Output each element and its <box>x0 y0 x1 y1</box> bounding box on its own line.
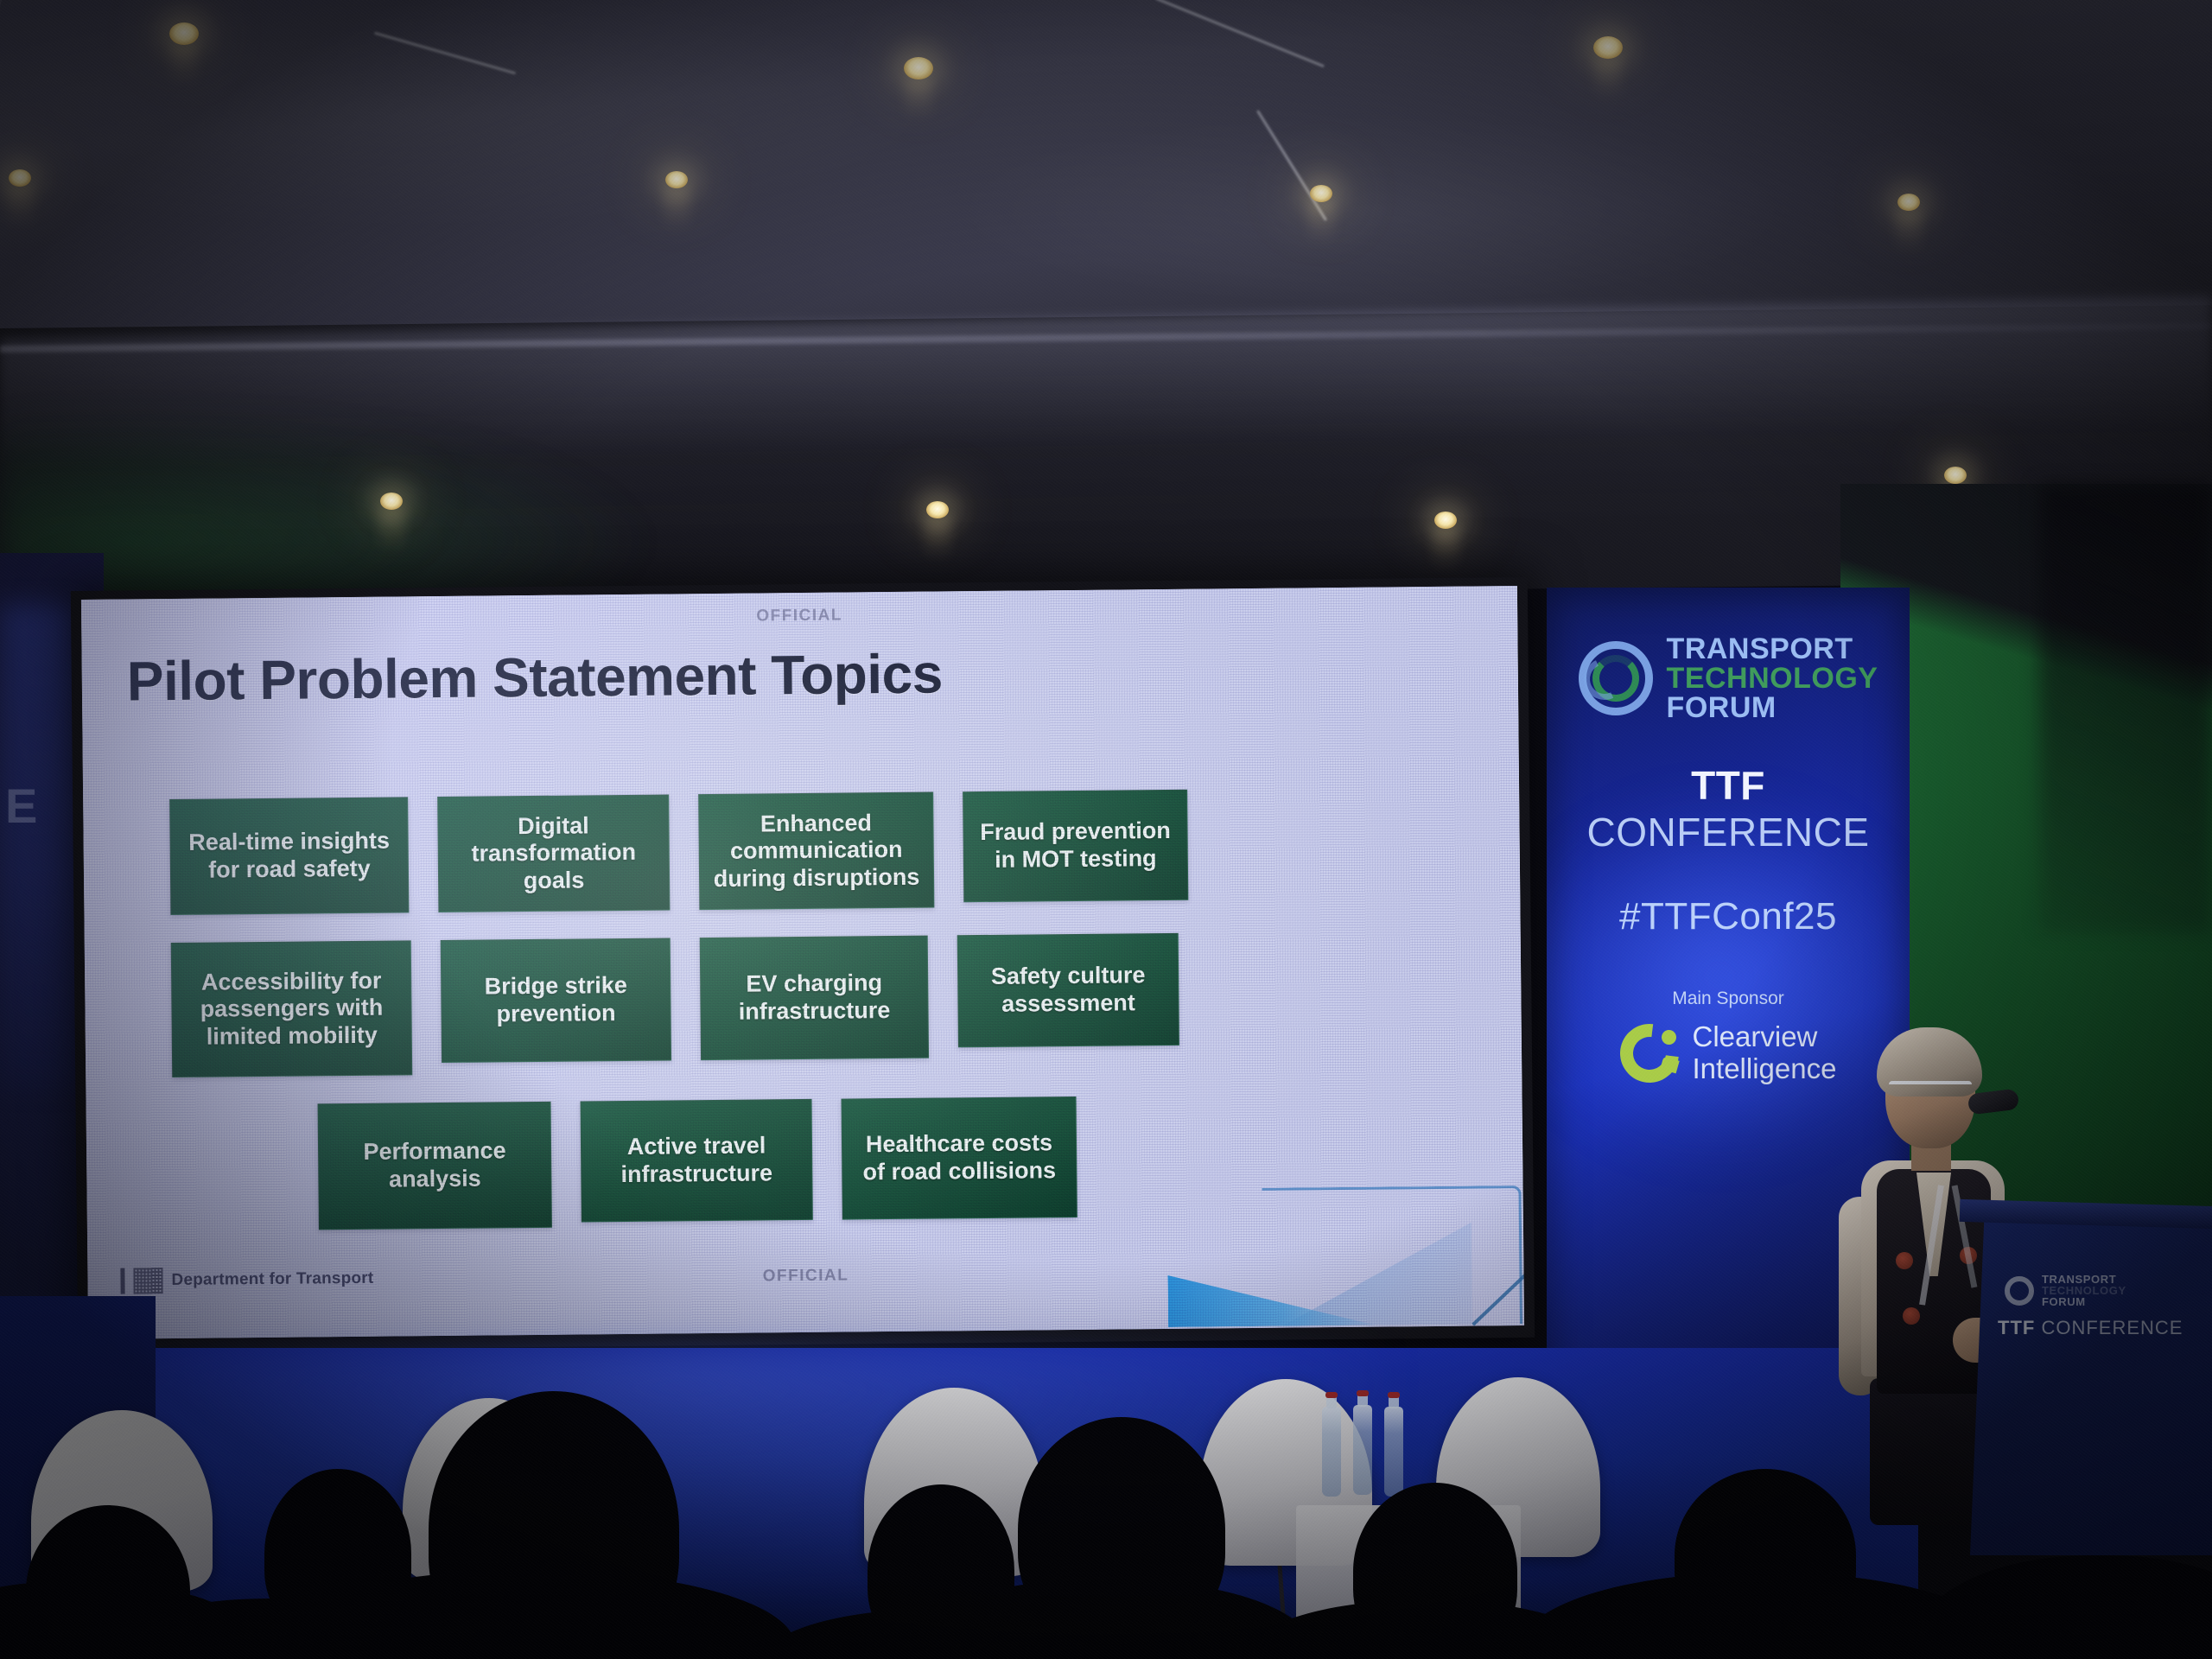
microphone-icon <box>1967 1089 2019 1116</box>
ceiling-downlight-icon <box>904 57 933 79</box>
ttf-logo-line-forum: FORUM <box>1667 693 1878 722</box>
clearview-c-logo-icon <box>1620 1024 1679 1083</box>
presentation-slide: OFFICIAL Pilot Problem Statement Topics … <box>81 586 1524 1339</box>
topic-row-1: Real-time insights for road safety Digit… <box>154 787 1451 915</box>
ceiling-downlight-icon <box>926 501 949 518</box>
wall-letter: E <box>5 778 39 834</box>
audience-silhouette <box>1353 1483 1517 1659</box>
topic-row-2: Accessibility for passengers with limite… <box>156 931 1452 1077</box>
water-bottle <box>1322 1407 1341 1497</box>
slide-title: Pilot Problem Statement Topics <box>126 641 943 713</box>
main-sponsor-label: Main Sponsor <box>1569 988 1887 1009</box>
conference-photo-scene: E OFFICIAL Pilot Problem Statement Topic… <box>0 0 2212 1659</box>
water-bottle <box>1384 1407 1403 1497</box>
vest-pattern <box>1896 1252 1913 1269</box>
vest-pattern <box>1903 1307 1920 1325</box>
ttf-logo-line-transport: TRANSPORT <box>1667 634 1878 664</box>
audience-silhouette <box>429 1391 679 1659</box>
stage-wall-left-glow <box>0 605 78 1089</box>
topic-card: Fraud prevention in MOT testing <box>963 790 1188 902</box>
topic-card: Enhanced communication during disruption… <box>698 792 934 911</box>
ttf-logo: TRANSPORT TECHNOLOGY FORUM <box>1569 634 1887 722</box>
lectern-conference-light: CONFERENCE <box>2035 1317 2183 1338</box>
ceiling-downlight-icon <box>1434 512 1457 529</box>
deco-corner-line <box>1262 1185 1523 1326</box>
audience-silhouette <box>264 1469 411 1638</box>
lectern-ttf-logo: TRANSPORT TECHNOLOGY FORUM <box>2005 1274 2126 1307</box>
topic-card: Active travel infrastructure <box>581 1099 813 1223</box>
ttf-logo-line-technology: TECHNOLOGY <box>1667 664 1878 693</box>
water-bottle <box>1353 1405 1372 1495</box>
lectern-conference-title: TTF CONFERENCE <box>1998 1317 2183 1339</box>
ceiling-downlight-icon <box>380 493 403 510</box>
classification-marking-top: OFFICIAL <box>81 600 1517 632</box>
lectern-logo-line3: FORUM <box>2042 1296 2126 1307</box>
banner-conference-bold: TTF <box>1691 763 1765 808</box>
glasses-icon <box>1889 1081 1972 1095</box>
topic-card: Bridge strike prevention <box>441 938 671 1063</box>
audience-silhouette <box>1018 1417 1225 1643</box>
audience-silhouette <box>868 1484 1014 1657</box>
slide-decorative-graphic <box>1151 1161 1524 1329</box>
banner-hashtag: #TTFConf25 <box>1569 895 1887 938</box>
ceiling-downlight-icon <box>169 22 199 45</box>
lectern <box>1970 1210 2212 1555</box>
lectern-conference-bold: TTF <box>1998 1317 2035 1338</box>
topic-card: Real-time insights for road safety <box>169 797 409 915</box>
topic-card: Healthcare costs of road collisions <box>842 1096 1077 1220</box>
ceiling-downlight-icon <box>665 171 688 188</box>
ttf-ring-logo-icon <box>2005 1276 2034 1306</box>
microphone-boom <box>1968 1083 2167 1212</box>
topic-card: Digital transformation goals <box>437 794 670 912</box>
sponsor-name-line2: Intelligence <box>1693 1053 1837 1085</box>
ceiling-downlight-icon <box>9 169 31 187</box>
topic-card: Safety culture assessment <box>957 933 1179 1047</box>
ceiling-downlight-icon <box>1944 467 1967 484</box>
projection-screen: OFFICIAL Pilot Problem Statement Topics … <box>81 586 1524 1339</box>
banner-conference-light: CONFERENCE <box>1586 810 1869 855</box>
audience-silhouette <box>1675 1469 1856 1642</box>
banner-conference-title: TTF CONFERENCE <box>1569 762 1887 855</box>
stage-wall-green-shadow <box>2039 484 2212 933</box>
ceiling-downlight-icon <box>1593 36 1623 59</box>
audience-silhouette <box>1918 1555 2212 1659</box>
topic-card: EV charging infrastructure <box>700 936 929 1061</box>
ceiling-downlight-icon <box>1310 185 1332 202</box>
topic-card: Performance analysis <box>318 1102 552 1230</box>
ttf-ring-logo-icon <box>1579 641 1653 715</box>
topic-card: Accessibility for passengers with limite… <box>171 940 412 1077</box>
ceiling-downlight-icon <box>1897 194 1920 211</box>
sponsor-name-line1: Clearview <box>1693 1021 1837 1053</box>
